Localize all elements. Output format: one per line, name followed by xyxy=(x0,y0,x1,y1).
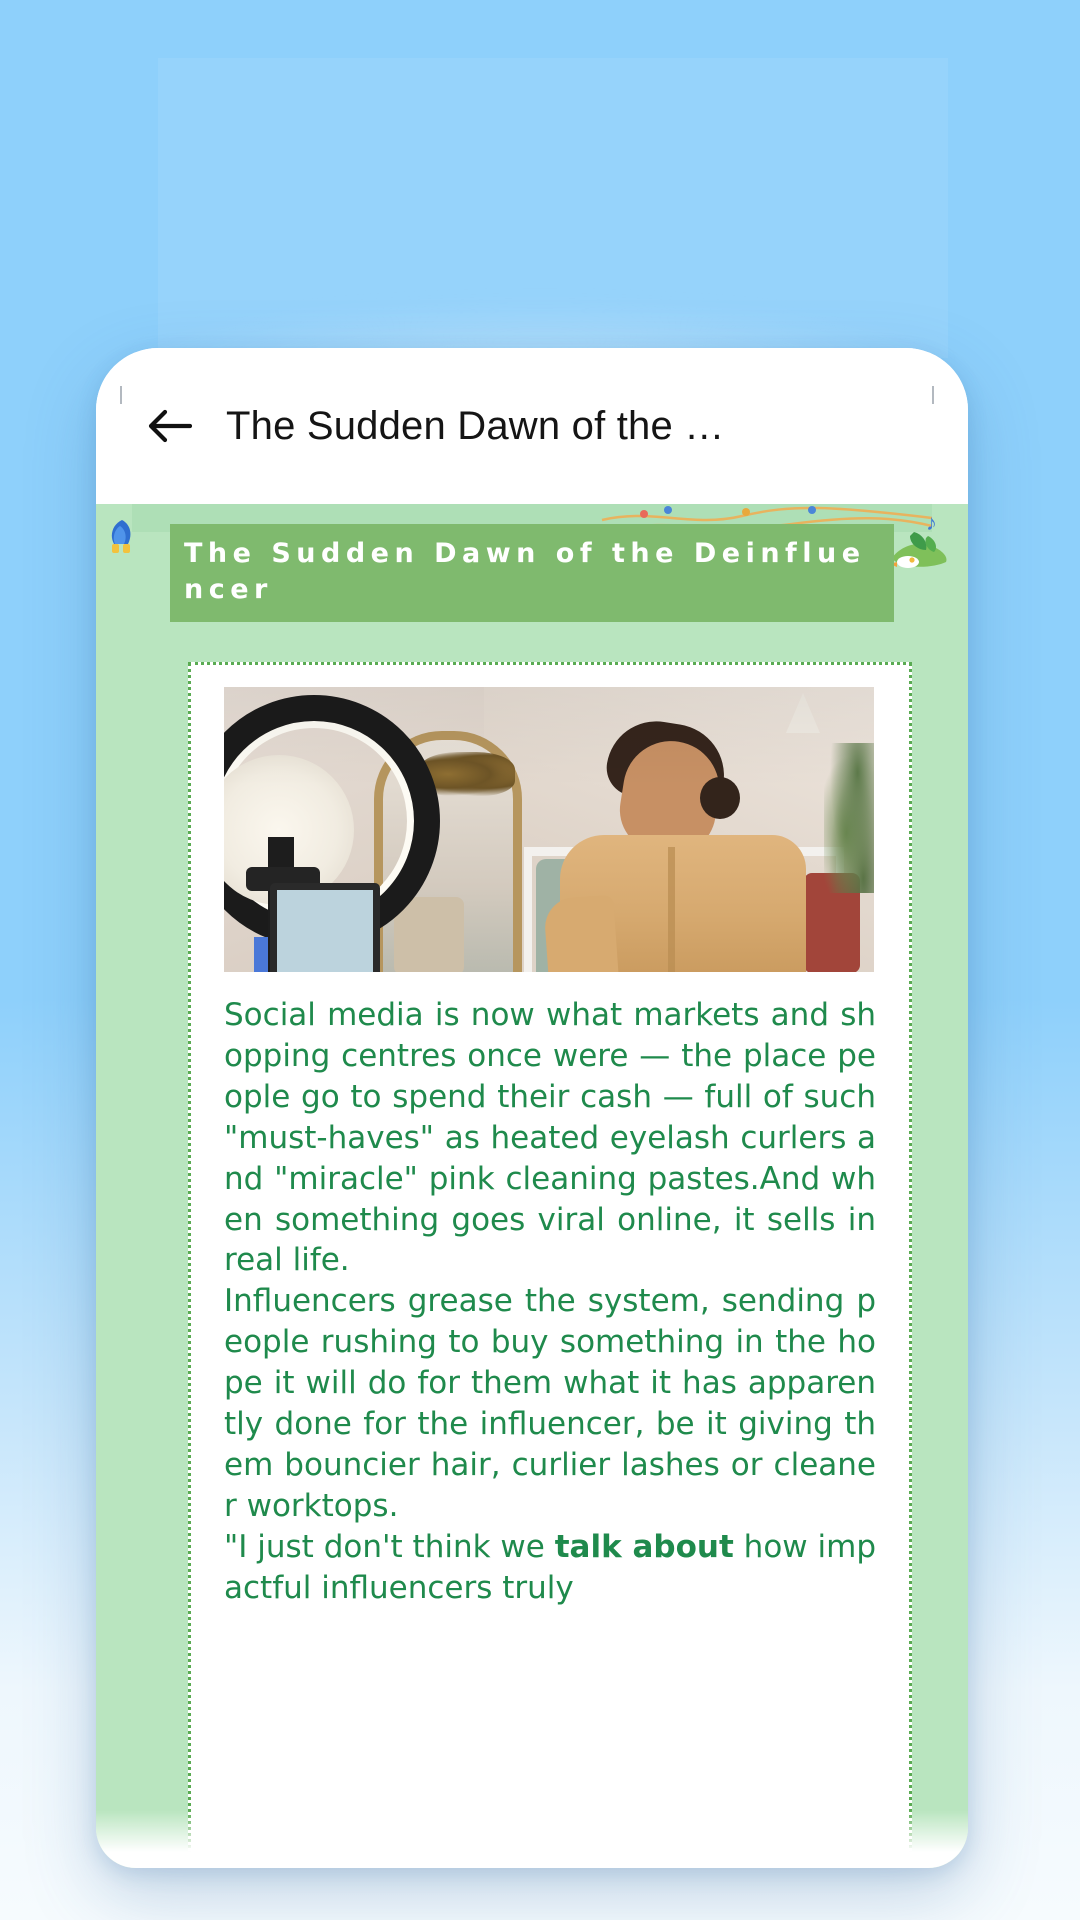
article-hero-photo xyxy=(224,687,874,972)
article-paragraph: "I just don't think we talk about how im… xyxy=(224,1527,876,1609)
article-body: Social media is now what markets and sho… xyxy=(224,995,876,1609)
blue-bird-icon xyxy=(104,518,138,560)
article-text: Social media is now what markets and sho… xyxy=(224,997,876,1278)
green-bird-icon xyxy=(888,522,952,578)
article-paragraph: Social media is now what markets and sho… xyxy=(224,995,876,1281)
page-title: The Sudden Dawn of the … xyxy=(226,404,724,449)
article-text-bold: talk about xyxy=(555,1529,734,1565)
status-tick-left xyxy=(120,386,122,404)
article-banner-title: The Sudden Dawn of the Deinfluencer xyxy=(170,524,894,622)
article-card: Social media is now what markets and sho… xyxy=(188,662,912,1868)
app-bar: The Sudden Dawn of the … xyxy=(96,348,968,504)
phone-frame: The Sudden Dawn of the … xyxy=(96,348,968,1868)
screen: The Sudden Dawn of the … xyxy=(0,0,1080,1920)
article-paragraph: Influencers grease the system, sending p… xyxy=(224,1281,876,1526)
back-arrow-icon[interactable] xyxy=(138,395,200,457)
article-text: Influencers grease the system, sending p… xyxy=(224,1283,876,1524)
status-tick-right xyxy=(932,386,934,404)
article-text: "I just don't think we xyxy=(224,1529,555,1565)
article-page[interactable]: ♪ The Sudden Dawn of the Deinfluencer xyxy=(96,504,968,1868)
article-canvas: ♪ The Sudden Dawn of the Deinfluencer xyxy=(132,504,932,1868)
